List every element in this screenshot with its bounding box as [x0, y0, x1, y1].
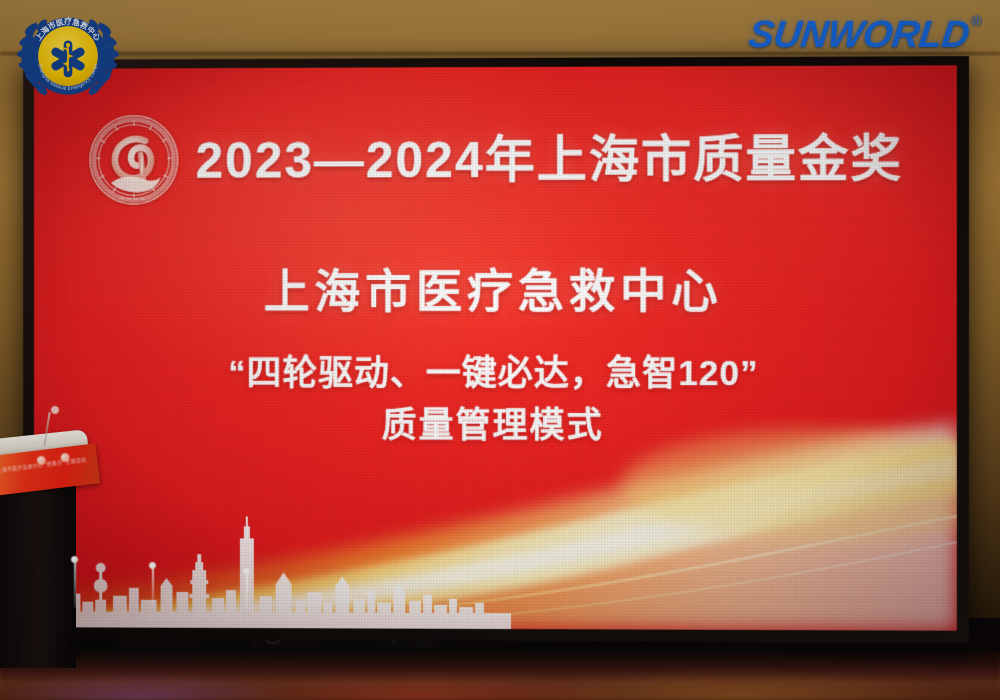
- skyline-svg: [34, 508, 511, 629]
- sunworld-brand-text: SUNWORLD: [747, 16, 971, 54]
- mic-stand: [74, 562, 76, 608]
- screen-brightness-hotspot: [34, 65, 957, 631]
- floor-reflection: [0, 648, 1000, 700]
- shanghai-quality-gold-award-emblem: [87, 112, 182, 208]
- mic-stand-head: [71, 556, 78, 563]
- ribbon-svg: [34, 389, 957, 631]
- led-video-wall: 2023—2024年上海市质量金奖 上海市医疗急救中心 “四轮驱动、一键必达，急…: [23, 56, 969, 643]
- golden-ribbon-swoosh: [34, 389, 957, 631]
- mic-stand: [246, 574, 248, 608]
- ribbon-base-wash: [34, 423, 957, 631]
- speaker-lectern: 上海市医疗急救中心 “质量月” 主题活动: [0, 398, 98, 668]
- slide-main-title: 2023—2024年上海市质量金奖: [196, 119, 903, 193]
- title-row: 2023—2024年上海市质量金奖: [34, 103, 957, 207]
- led-screen-surface: 2023—2024年上海市质量金奖 上海市医疗急救中心 “四轮驱动、一键必达，急…: [34, 65, 957, 631]
- mic-stand: [152, 568, 154, 608]
- mic-stand-head: [149, 562, 156, 569]
- slide-model-label: 质量管理模式: [34, 397, 957, 449]
- ribbon-glow: [621, 429, 957, 542]
- slide-model-slogan: “四轮驱动、一键必达，急智120”: [34, 345, 957, 396]
- smec-logo-svg: 上海市医疗急救中心 Shanghai Medical Emergency Cen…: [10, 4, 126, 112]
- registered-trademark-icon: ®: [971, 14, 982, 29]
- shanghai-skyline-silhouette: [34, 508, 511, 629]
- shanghai-medical-emergency-center-logo: 上海市医疗急救中心 Shanghai Medical Emergency Cen…: [10, 4, 126, 112]
- ribbon-main-band: [34, 438, 957, 630]
- conference-stage-photo: 2023—2024年上海市质量金奖 上海市医疗急救中心 “四轮驱动、一键必达，急…: [0, 0, 1000, 700]
- sunworld-wall-sign: SUNWORLD ®: [749, 16, 982, 54]
- slide-content: 2023—2024年上海市质量金奖 上海市医疗急救中心 “四轮驱动、一键必达，急…: [34, 65, 957, 631]
- mic-stand-head: [243, 568, 250, 575]
- ribbon-light-strand: [34, 514, 957, 631]
- microphone-head: [51, 406, 59, 414]
- ribbon-light-strand: [34, 540, 957, 631]
- ribbon-core-highlight: [34, 454, 957, 630]
- award-emblem-svg: [87, 112, 182, 208]
- lectern-banner-text: 上海市医疗急救中心 “质量月” 主题活动: [0, 456, 94, 477]
- slide-organization-name: 上海市医疗急救中心: [34, 254, 957, 321]
- screen-vignette: [34, 65, 957, 631]
